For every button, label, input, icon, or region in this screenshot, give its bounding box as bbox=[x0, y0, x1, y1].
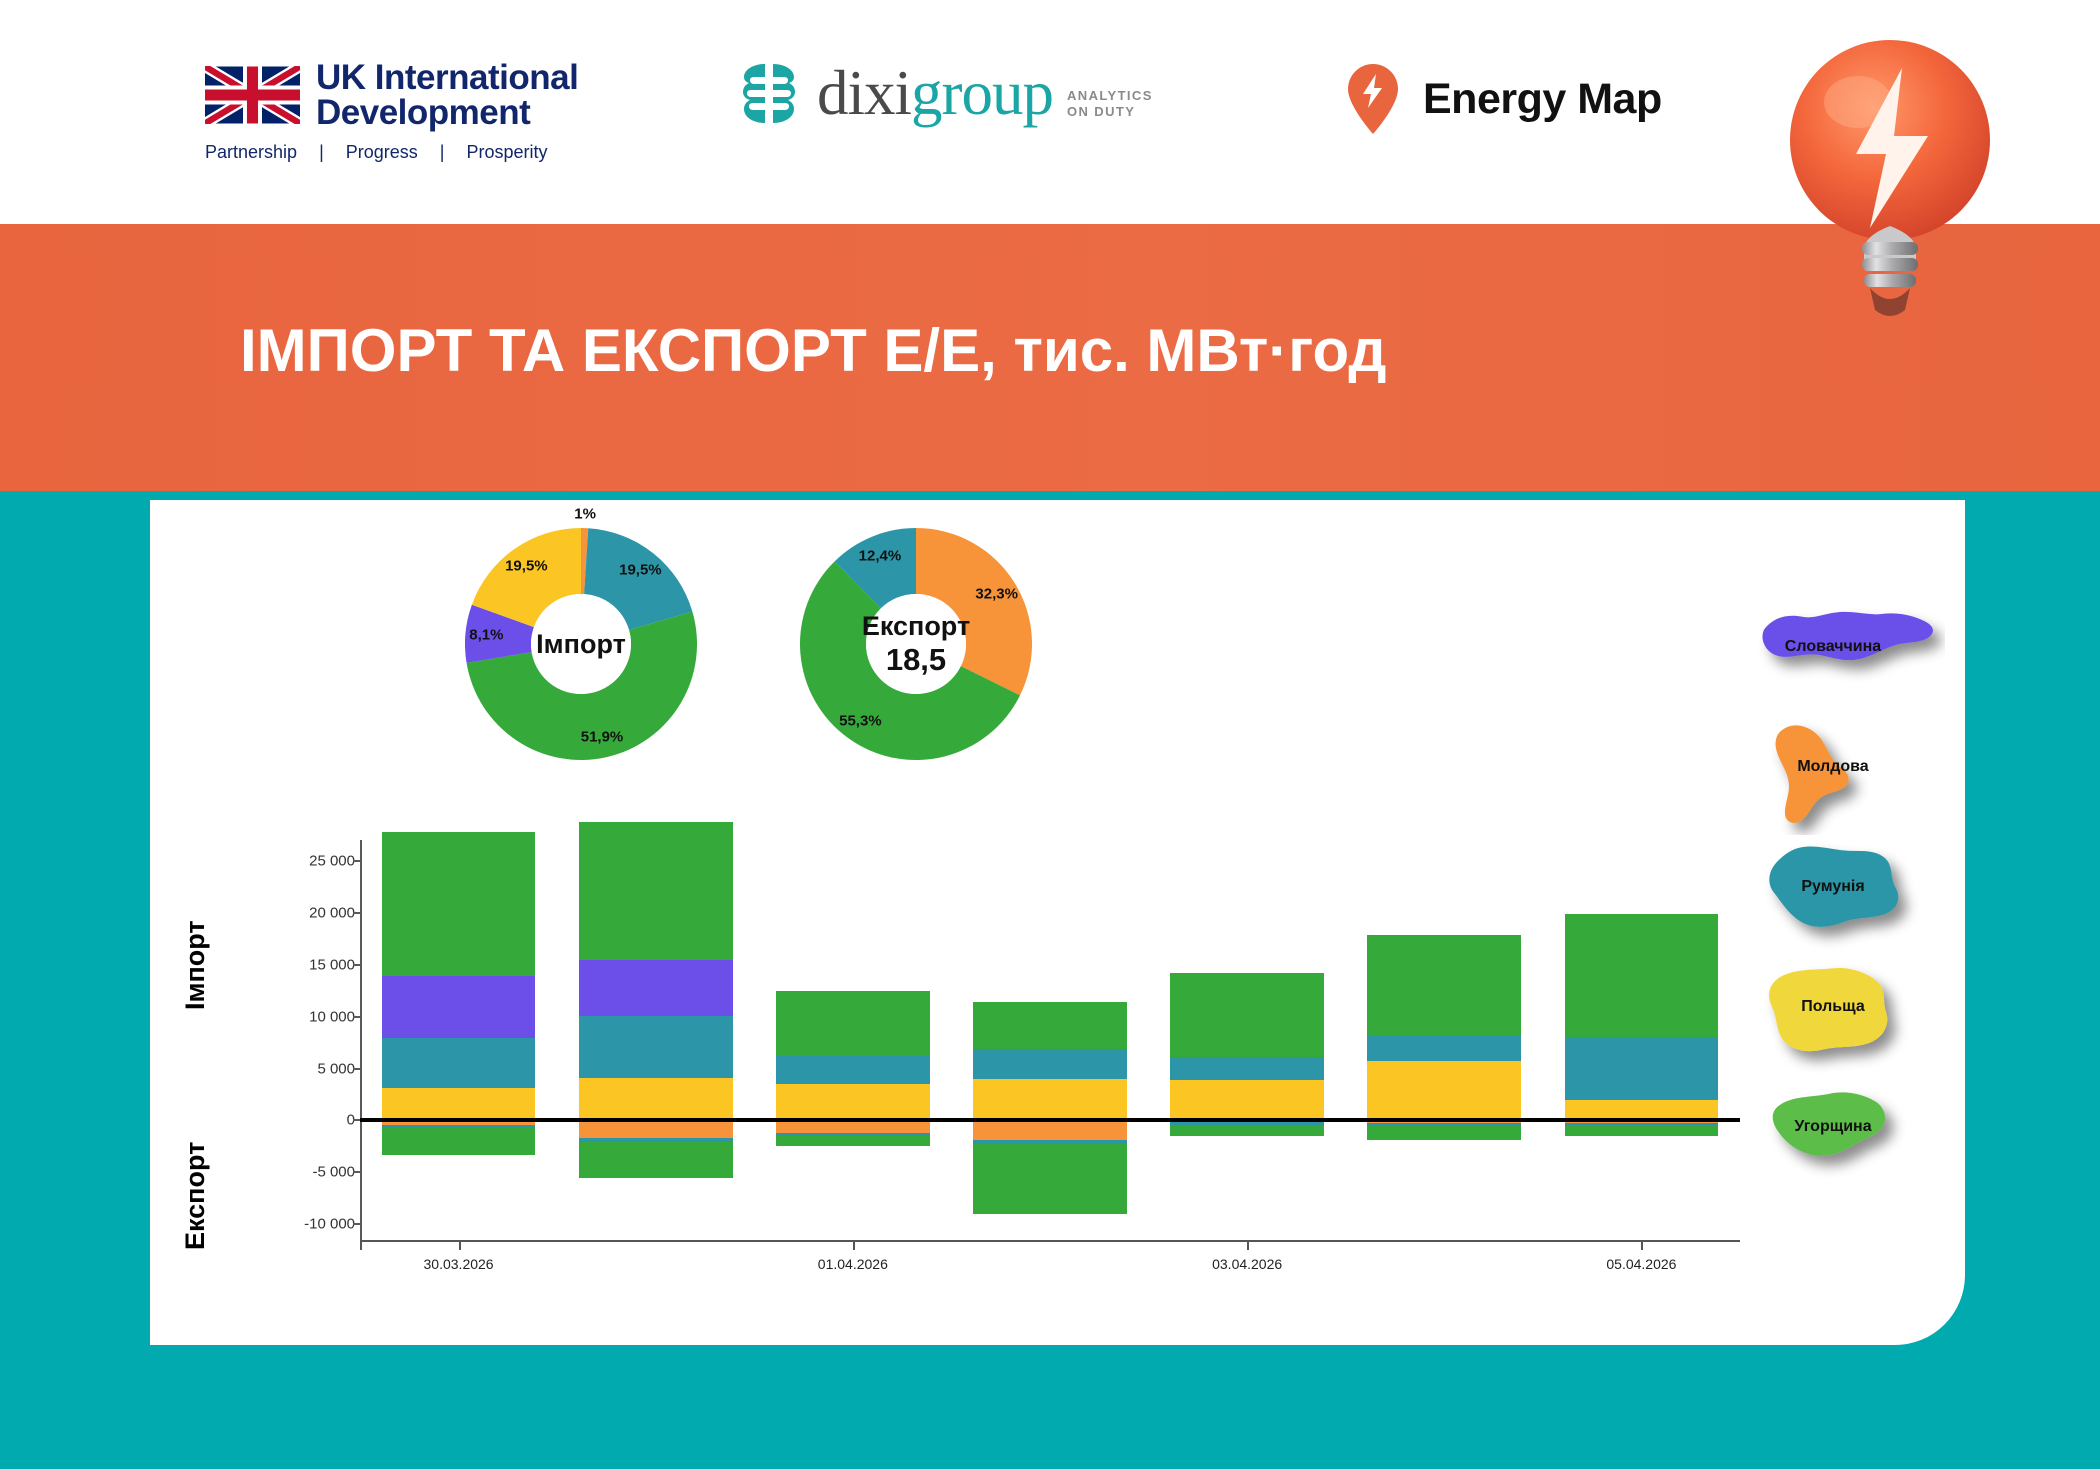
x-axis-tick-label: 03.04.2026 bbox=[1212, 1256, 1282, 1272]
bar-segment-import-польща bbox=[1170, 1080, 1324, 1120]
export-donut-chart: Експорт 18,5 32,3%55,3%12,4% bbox=[800, 528, 1032, 760]
uk-logo-line1: UK International bbox=[316, 60, 578, 95]
bar-segment-export-молдова bbox=[579, 1120, 733, 1138]
bar-segment-import-румунія bbox=[579, 1016, 733, 1078]
light-bulb-illustration bbox=[1770, 20, 2010, 350]
x-axis-tick-label: 01.04.2026 bbox=[818, 1256, 888, 1272]
import-donut-chart: Імпорт 1%19,5%51,9%8,1%19,5% bbox=[465, 528, 697, 760]
axis-title-import: Імпорт bbox=[180, 820, 211, 1010]
country-legend: СловаччинаМолдоваРумуніяПольщаУгорщина bbox=[1755, 595, 1945, 1195]
bar-segment-export-угорщина bbox=[1565, 1125, 1719, 1136]
bar-segment-import-польща bbox=[579, 1078, 733, 1120]
bar-segment-import-румунія bbox=[776, 1055, 930, 1084]
legend-item-label: Румунія bbox=[1801, 878, 1864, 896]
dixigroup-logo: dixigroup ANALYTICS ON DUTY bbox=[735, 60, 1153, 126]
y-axis-tick-label: 20 000 bbox=[255, 905, 355, 922]
uk-international-development-logo: UK International Development Partnership… bbox=[205, 60, 578, 163]
energy-map-label: Energy Map bbox=[1423, 75, 1662, 124]
page-header: UK International Development Partnership… bbox=[0, 0, 2100, 224]
legend-item-label: Молдова bbox=[1797, 758, 1868, 776]
dixigroup-tagline-line2: ON DUTY bbox=[1067, 104, 1153, 120]
bar-segment-import-словаччина bbox=[382, 976, 536, 1037]
tagline-partnership: Partnership bbox=[205, 142, 297, 163]
export-donut-title: Експорт bbox=[862, 611, 970, 642]
uk-logo-line2: Development bbox=[316, 95, 578, 130]
legend-item-label: Угорщина bbox=[1794, 1118, 1871, 1136]
legend-item-hungary[interactable]: Угорщина bbox=[1755, 1075, 1945, 1195]
union-jack-flag-icon bbox=[205, 66, 300, 124]
y-axis-tick-label: 15 000 bbox=[255, 957, 355, 974]
bar-segment-export-угорщина bbox=[579, 1142, 733, 1178]
tagline-sep-1: | bbox=[297, 142, 346, 163]
bar-segment-import-угорщина bbox=[382, 832, 536, 976]
export-donut-center: Експорт 18,5 bbox=[866, 594, 966, 694]
page-title: ІМПОРТ ТА ЕКСПОРТ Е/Е, тис. МВт·год bbox=[240, 316, 1386, 385]
export-donut-value: 18,5 bbox=[886, 642, 946, 678]
bar-segment-import-польща bbox=[1565, 1100, 1719, 1121]
x-axis-tick-mark bbox=[1247, 1240, 1249, 1250]
bar-segment-import-польща bbox=[1367, 1061, 1521, 1120]
y-axis-tick-label: 0 bbox=[255, 1112, 355, 1129]
bar-segment-export-угорщина bbox=[973, 1144, 1127, 1213]
bar-segment-import-румунія bbox=[1565, 1037, 1719, 1100]
bar-segment-import-румунія bbox=[382, 1038, 536, 1089]
bar-segment-import-угорщина bbox=[1565, 914, 1719, 1036]
bar-segment-import-угорщина bbox=[1367, 935, 1521, 1036]
legend-item-slovakia[interactable]: Словаччина bbox=[1755, 595, 1945, 715]
legend-item-label: Словаччина bbox=[1785, 638, 1881, 656]
uk-logo-tagline: Partnership | Progress | Prosperity bbox=[205, 142, 578, 163]
group-word: group bbox=[911, 58, 1053, 128]
donut-slice-label: 19,5% bbox=[505, 558, 548, 575]
legend-item-moldova[interactable]: Молдова bbox=[1755, 715, 1945, 835]
dixigroup-tagline: ANALYTICS ON DUTY bbox=[1067, 88, 1153, 121]
donut-slice-label: 1% bbox=[574, 506, 596, 523]
donut-slice-label: 19,5% bbox=[619, 561, 662, 578]
donut-slice-label: 32,3% bbox=[975, 585, 1018, 602]
dixigroup-tagline-line1: ANALYTICS bbox=[1067, 88, 1153, 104]
bar-segment-import-угорщина bbox=[776, 991, 930, 1055]
x-axis-line bbox=[360, 1240, 1740, 1242]
bar-segment-import-словаччина bbox=[579, 960, 733, 1016]
x-axis-tick-mark bbox=[1641, 1240, 1643, 1250]
bar-segment-import-румунія bbox=[1170, 1057, 1324, 1080]
bar-segment-export-угорщина bbox=[382, 1127, 536, 1155]
legend-item-poland[interactable]: Польща bbox=[1755, 955, 1945, 1075]
import-donut-title: Імпорт bbox=[536, 629, 626, 660]
bar-segment-export-угорщина bbox=[1170, 1126, 1324, 1136]
dixigroup-brain-icon bbox=[735, 60, 803, 126]
x-axis-tick-mark bbox=[459, 1240, 461, 1250]
tagline-prosperity: Prosperity bbox=[466, 142, 547, 163]
y-axis-tick-label: 10 000 bbox=[255, 1008, 355, 1025]
import-donut-center: Імпорт bbox=[531, 594, 631, 694]
tagline-progress: Progress bbox=[346, 142, 418, 163]
x-axis-tick-label: 05.04.2026 bbox=[1606, 1256, 1676, 1272]
x-axis-tick-mark bbox=[853, 1240, 855, 1250]
bar-segment-import-угорщина bbox=[579, 822, 733, 960]
donut-slice-label: 8,1% bbox=[469, 627, 503, 644]
dixi-word: dixi bbox=[817, 58, 911, 128]
bar-segment-import-угорщина bbox=[1170, 973, 1324, 1057]
x-axis-tick-label: 30.03.2026 bbox=[424, 1256, 494, 1272]
bar-segment-import-польща bbox=[382, 1088, 536, 1120]
bar-segment-import-румунія bbox=[1367, 1036, 1521, 1062]
plot-area bbox=[360, 820, 1740, 1250]
import-export-bar-chart: Імпорт Експорт 25 00020 00015 00010 0005… bbox=[250, 820, 1740, 1270]
bar-segment-import-польща bbox=[973, 1079, 1127, 1120]
legend-item-romania[interactable]: Румунія bbox=[1755, 835, 1945, 955]
y-axis-tick-label: 25 000 bbox=[255, 853, 355, 870]
zero-baseline bbox=[360, 1118, 1740, 1122]
bar-segment-export-молдова bbox=[973, 1120, 1127, 1140]
map-pin-bolt-icon bbox=[1345, 62, 1401, 136]
donut-slice-label: 51,9% bbox=[581, 728, 624, 745]
tagline-sep-2: | bbox=[418, 142, 467, 163]
bar-segment-export-угорщина bbox=[776, 1136, 930, 1146]
y-axis-tick-label: -5 000 bbox=[255, 1164, 355, 1181]
y-axis-tick-label: -10 000 bbox=[255, 1216, 355, 1233]
dixigroup-wordmark: dixigroup bbox=[817, 62, 1053, 125]
energy-map-logo: Energy Map bbox=[1345, 62, 1662, 136]
donut-slice-label: 12,4% bbox=[859, 548, 902, 565]
axis-title-export: Експорт bbox=[180, 1050, 211, 1250]
x-axis-origin-tick bbox=[360, 1240, 362, 1250]
y-axis-tick-label: 5 000 bbox=[255, 1060, 355, 1077]
legend-item-label: Польща bbox=[1801, 998, 1864, 1016]
bar-segment-export-угорщина bbox=[1367, 1126, 1521, 1141]
bar-segment-import-польща bbox=[776, 1084, 930, 1120]
donut-slice-label: 55,3% bbox=[839, 713, 882, 730]
bar-segment-import-румунія bbox=[973, 1049, 1127, 1079]
bar-segment-import-угорщина bbox=[973, 1002, 1127, 1049]
